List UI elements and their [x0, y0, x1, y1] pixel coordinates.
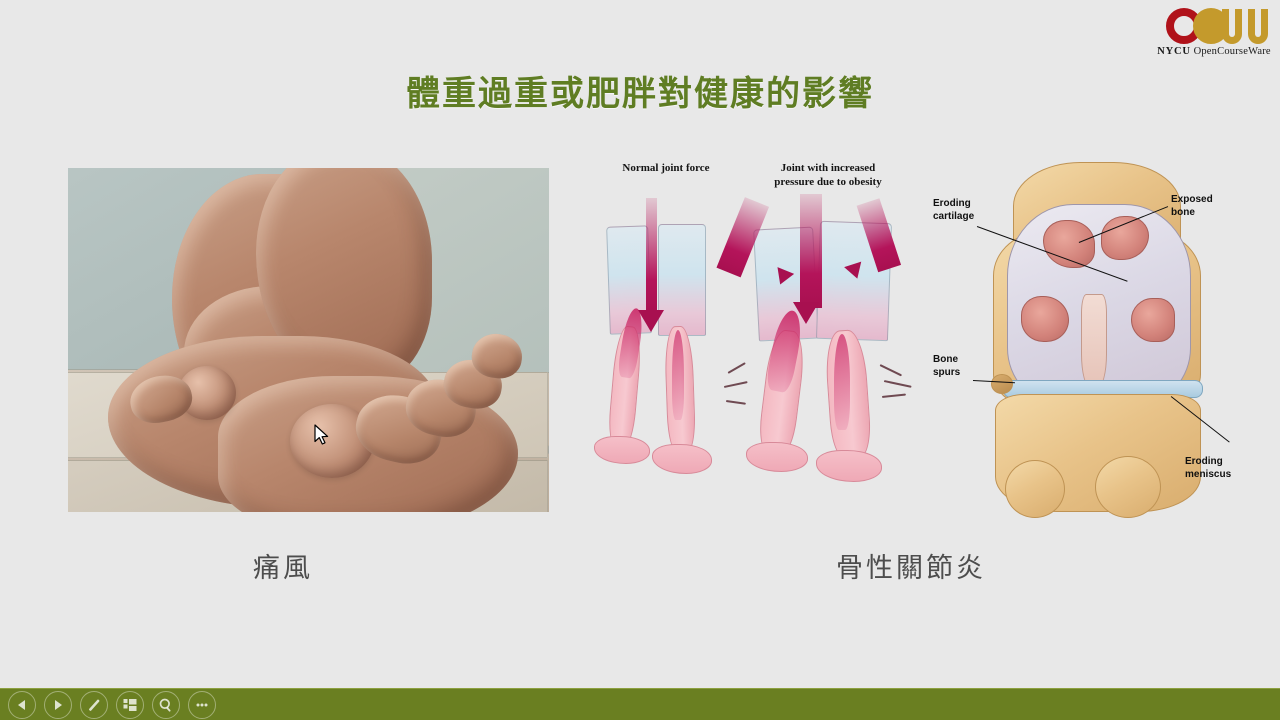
arrow-pointer-icon: [314, 424, 332, 448]
gout-caption: 痛風: [253, 546, 313, 585]
logo-letter-w: [1222, 9, 1268, 44]
bone-spurs-label: Bone spurs: [933, 354, 960, 379]
eroding-meniscus-line2: meniscus: [1185, 469, 1231, 482]
grid-icon: [122, 697, 138, 713]
triangle-left-icon: [15, 698, 29, 712]
pen-icon: [86, 697, 102, 713]
eroding-cartilage-label: Eroding cartilage: [933, 198, 974, 223]
obese-label-line2: pressure due to obesity: [748, 176, 908, 190]
eroding-meniscus-line1: Eroding: [1185, 456, 1231, 469]
triangle-right-icon: [51, 698, 65, 712]
logo-wordmark: NYCU OpenCourseWare: [1152, 46, 1276, 57]
player-toolbar: [0, 688, 1280, 720]
logo-fullname: OpenCourseWare: [1194, 46, 1271, 57]
presentation-slide: NYCU OpenCourseWare 體重過重或肥胖對健康的影響 Normal…: [0, 0, 1280, 720]
previous-slide-button[interactable]: [8, 691, 36, 719]
page-title: 體重過重或肥胖對健康的影響: [0, 66, 1280, 115]
gout-photo: [68, 168, 549, 512]
zoom-tool-button[interactable]: [152, 691, 180, 719]
bone-spurs-line2: spurs: [933, 367, 960, 380]
nycu-ocw-logo: NYCU OpenCourseWare: [1152, 8, 1276, 62]
exposed-bone-label: Exposed bone: [1171, 194, 1213, 219]
pen-tool-button[interactable]: [80, 691, 108, 719]
joint-force-diagram: Normal joint force Joint with increased …: [588, 158, 928, 512]
obese-joint-pressure-label: Joint with increased pressure due to obe…: [748, 162, 908, 190]
ocw-logo-mark: [1152, 8, 1276, 44]
next-slide-button[interactable]: [44, 691, 72, 719]
osteoarthritis-caption: 骨性關節炎: [836, 546, 986, 585]
obese-label-line1: Joint with increased: [748, 162, 908, 176]
ellipsis-icon: [194, 697, 210, 713]
bone-spurs-line1: Bone: [933, 354, 960, 367]
normal-joint-force-label: Normal joint force: [596, 162, 736, 176]
exposed-bone-line2: bone: [1171, 207, 1213, 220]
eroding-meniscus-label: Eroding meniscus: [1185, 456, 1231, 481]
eroding-cartilage-line1: Eroding: [933, 198, 974, 211]
knee-osteoarthritis-diagram: Eroding cartilage Exposed bone Bone spur…: [935, 168, 1280, 518]
magnifier-icon: [158, 697, 174, 713]
eroding-cartilage-line2: cartilage: [933, 211, 974, 224]
exposed-bone-line1: Exposed: [1171, 194, 1213, 207]
logo-abbrev: NYCU: [1157, 46, 1191, 57]
more-options-button[interactable]: [188, 691, 216, 719]
slide-overview-button[interactable]: [116, 691, 144, 719]
mouse-cursor: [314, 424, 332, 448]
